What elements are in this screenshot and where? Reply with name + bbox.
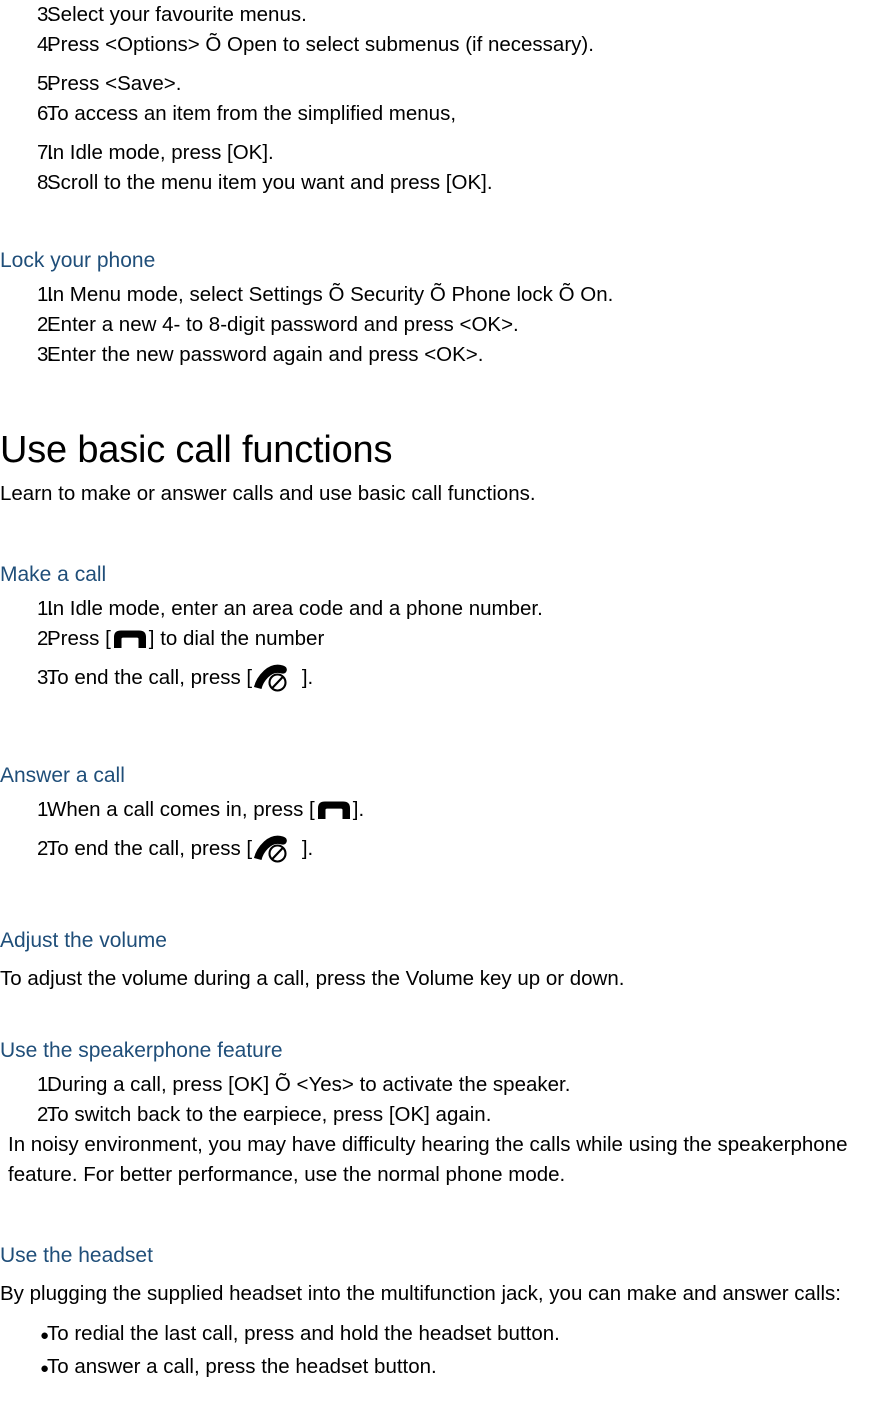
list-item-text-after: ]. <box>296 666 313 689</box>
list-item-text-before: To end the call, press [ <box>47 666 252 689</box>
section-lock-your-phone: Lock your phone 1. In Menu mode, select … <box>0 247 872 370</box>
section-chapter-heading: Use basic call functions Learn to make o… <box>0 427 872 508</box>
list-marker: 7. <box>0 138 47 168</box>
chapter-intro-text: Learn to make or answer calls and use ba… <box>0 479 872 508</box>
document-page: 3. Select your favourite menus. 4. Press… <box>0 0 872 1403</box>
speakerphone-note: In noisy environment, you may have diffi… <box>0 1130 872 1190</box>
numbered-list-speakerphone: 1. During a call, press [OK] Õ <Yes> to … <box>0 1070 872 1130</box>
headset-paragraph: By plugging the supplied headset into th… <box>0 1278 872 1309</box>
list-marker: 2. <box>0 310 47 340</box>
dial-key-icon <box>111 628 149 649</box>
list-item-text: To redial the last call, press and hold … <box>47 1318 872 1349</box>
list-item-text: Select your favourite menus. <box>47 0 872 30</box>
list-item-text-after: ]. <box>353 798 364 821</box>
heading-lock-your-phone: Lock your phone <box>0 247 872 275</box>
heading-make-a-call: Make a call <box>0 561 872 589</box>
bullet-icon: ● <box>0 1320 47 1351</box>
section-adjust-the-volume: Adjust the volume To adjust the volume d… <box>0 927 872 993</box>
list-marker: 1. <box>0 594 47 624</box>
section-make-a-call: Make a call 1. In Idle mode, enter an ar… <box>0 561 872 693</box>
list-item: ● To redial the last call, press and hol… <box>0 1318 872 1351</box>
list-item-text: To access an item from the simplified me… <box>47 99 872 129</box>
list-item-text: To end the call, press [ ]. <box>47 834 872 864</box>
section-answer-a-call: Answer a call 1. When a call comes in, p… <box>0 762 872 864</box>
list-item: 3. Enter the new password again and pres… <box>0 340 872 370</box>
bullet-icon: ● <box>0 1353 47 1384</box>
list-item-text: In Idle mode, press [OK]. <box>47 138 872 168</box>
list-marker: 5. <box>0 69 47 99</box>
list-item: 5. Press <Save>. <box>0 69 872 99</box>
list-item: 1. During a call, press [OK] Õ <Yes> to … <box>0 1070 872 1100</box>
list-marker: 3. <box>0 340 47 370</box>
list-marker: 6. <box>0 99 47 129</box>
section-favourite-menus: 3. Select your favourite menus. 4. Press… <box>0 0 872 198</box>
list-item-text: To end the call, press [ ]. <box>47 663 872 693</box>
list-item-text-before: When a call comes in, press [ <box>47 798 315 821</box>
list-item: 3. Select your favourite menus. <box>0 0 872 30</box>
heading-adjust-the-volume: Adjust the volume <box>0 927 872 955</box>
list-marker: 2. <box>0 834 47 864</box>
adjust-volume-paragraph: To adjust the volume during a call, pres… <box>0 964 872 993</box>
list-item-text: Scroll to the menu item you want and pre… <box>47 168 872 198</box>
list-marker: 4. <box>0 30 47 60</box>
list-marker: 1. <box>0 795 47 825</box>
list-marker: 1. <box>0 280 47 310</box>
list-item: 7. In Idle mode, press [OK]. <box>0 138 872 168</box>
numbered-list-lock-phone: 1. In Menu mode, select Settings Õ Secur… <box>0 280 872 370</box>
list-item: 2. Enter a new 4- to 8-digit password an… <box>0 310 872 340</box>
list-item: 2. To switch back to the earpiece, press… <box>0 1100 872 1130</box>
list-item-text: In Idle mode, enter an area code and a p… <box>47 594 872 624</box>
list-marker: 3. <box>0 0 47 30</box>
list-item-text: During a call, press [OK] Õ <Yes> to act… <box>47 1070 872 1100</box>
list-item-text: Enter the new password again and press <… <box>47 340 872 370</box>
list-item: 4. Press <Options> Õ Open to select subm… <box>0 30 872 60</box>
list-item-text-after: ] to dial the number <box>149 627 325 650</box>
list-item: 1. In Idle mode, enter an area code and … <box>0 594 872 624</box>
list-item: 3. To end the call, press [ ]. <box>0 663 872 693</box>
list-item-text: Press <Options> Õ Open to select submenu… <box>47 30 872 60</box>
list-item: 2. Press [] to dial the number <box>0 624 872 654</box>
list-item-text: When a call comes in, press []. <box>47 795 872 825</box>
list-item-text: Press <Save>. <box>47 69 872 99</box>
list-item-text: Press [] to dial the number <box>47 624 872 654</box>
list-marker: 2. <box>0 624 47 654</box>
end-call-key-icon <box>252 663 296 693</box>
numbered-list-answer-a-call: 1. When a call comes in, press []. 2. To… <box>0 795 872 864</box>
end-call-key-icon <box>252 834 296 864</box>
list-item: 1. When a call comes in, press []. <box>0 795 872 825</box>
heading-answer-a-call: Answer a call <box>0 762 872 790</box>
list-item: ● To answer a call, press the headset bu… <box>0 1351 872 1384</box>
numbered-list-top: 3. Select your favourite menus. 4. Press… <box>0 0 872 198</box>
list-item: 8. Scroll to the menu item you want and … <box>0 168 872 198</box>
list-item: 2. To end the call, press [ ]. <box>0 834 872 864</box>
page-title: Use basic call functions <box>0 427 872 473</box>
list-item-text-after: ]. <box>296 837 313 860</box>
heading-use-the-headset: Use the headset <box>0 1242 872 1270</box>
list-marker: 3. <box>0 663 47 693</box>
list-item-text-before: To end the call, press [ <box>47 837 252 860</box>
list-marker: 2. <box>0 1100 47 1130</box>
numbered-list-make-a-call: 1. In Idle mode, enter an area code and … <box>0 594 872 693</box>
list-item-text: To switch back to the earpiece, press [O… <box>47 1100 872 1130</box>
list-marker: 1. <box>0 1070 47 1100</box>
list-item-text: Enter a new 4- to 8-digit password and p… <box>47 310 872 340</box>
list-marker: 8. <box>0 168 47 198</box>
dial-key-icon <box>315 799 353 820</box>
bullet-list-headset: ● To redial the last call, press and hol… <box>0 1318 872 1384</box>
list-item-text-before: Press [ <box>47 627 111 650</box>
list-item: 1. In Menu mode, select Settings Õ Secur… <box>0 280 872 310</box>
list-item-text: In Menu mode, select Settings Õ Security… <box>47 280 872 310</box>
list-item-text: To answer a call, press the headset butt… <box>47 1351 872 1382</box>
heading-speakerphone: Use the speakerphone feature <box>0 1037 872 1065</box>
section-speakerphone: Use the speakerphone feature 1. During a… <box>0 1037 872 1190</box>
section-use-the-headset: Use the headset By plugging the supplied… <box>0 1242 872 1384</box>
list-item: 6. To access an item from the simplified… <box>0 99 872 129</box>
